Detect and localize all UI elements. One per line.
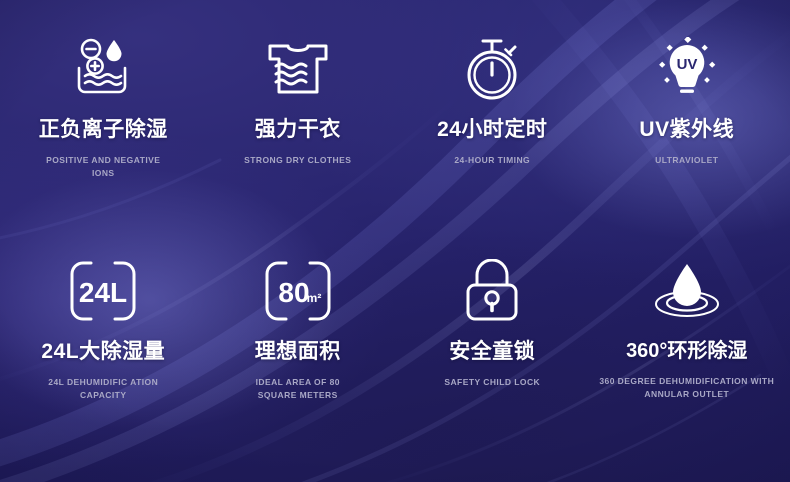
area-unit-label: m² (306, 291, 321, 305)
feature-item-dry-clothes[interactable]: 强力干衣 STRONG DRY CLOTHES (201, 26, 396, 248)
feature-subtitle: 24L DEHUMIDIFIC ATION CAPACITY (40, 376, 166, 402)
feature-title: 360°环形除湿 (626, 340, 747, 362)
feature-title: UV紫外线 (639, 118, 734, 141)
feature-title: 24L大除湿量 (41, 340, 165, 363)
area-value-label: 80 (278, 277, 309, 308)
feature-subtitle: IDEAL AREA OF 80 SQUARE METERS (235, 376, 361, 402)
tshirt-dry-icon (267, 32, 329, 106)
feature-title: 安全童锁 (449, 340, 535, 363)
feature-item-capacity[interactable]: 24L 24L大除湿量 24L DEHUMIDIFIC ATION CAPACI… (6, 248, 201, 470)
feature-subtitle: SAFETY CHILD LOCK (444, 376, 540, 389)
uv-lamp-icon: UV (654, 32, 720, 106)
feature-subtitle: POSITIVE AND NEGATIVE IONS (40, 154, 166, 180)
area-80sqm-icon: 80 m² (264, 254, 332, 328)
capacity-24l-icon: 24L (69, 254, 137, 328)
water-droplet-ripple-icon (650, 254, 724, 328)
feature-title: 正负离子除湿 (39, 118, 168, 141)
feature-grid-banner: 正负离子除湿 POSITIVE AND NEGATIVE IONS 强力干衣 S… (0, 0, 790, 482)
feature-item-child-lock[interactable]: 安全童锁 SAFETY CHILD LOCK (395, 248, 590, 470)
feature-item-area[interactable]: 80 m² 理想面积 IDEAL AREA OF 80 SQUARE METER… (201, 248, 396, 470)
feature-subtitle: 24-HOUR TIMING (454, 154, 530, 167)
features-grid: 正负离子除湿 POSITIVE AND NEGATIVE IONS 强力干衣 S… (0, 0, 790, 482)
stopwatch-timer-icon (461, 32, 523, 106)
ion-water-basin-icon (70, 32, 136, 106)
feature-subtitle: STRONG DRY CLOTHES (244, 154, 351, 167)
feature-subtitle: ULTRAVIOLET (655, 154, 718, 167)
feature-item-uv[interactable]: UV UV紫外线 ULTRAVIOLET (590, 26, 785, 248)
capacity-value-label: 24L (79, 277, 127, 308)
padlock-child-lock-icon (464, 254, 520, 328)
feature-title: 24小时定时 (437, 118, 547, 141)
feature-item-ions[interactable]: 正负离子除湿 POSITIVE AND NEGATIVE IONS (6, 26, 201, 248)
uv-label: UV (676, 56, 697, 73)
feature-item-timer[interactable]: 24小时定时 24-HOUR TIMING (395, 26, 590, 248)
feature-title: 理想面积 (255, 340, 341, 363)
feature-item-360-dehumidify[interactable]: 360°环形除湿 360 DEGREE DEHUMIDIFICATION WIT… (590, 248, 785, 470)
feature-title: 强力干衣 (255, 118, 341, 141)
feature-subtitle: 360 DEGREE DEHUMIDIFICATION WITH ANNULAR… (592, 375, 782, 401)
